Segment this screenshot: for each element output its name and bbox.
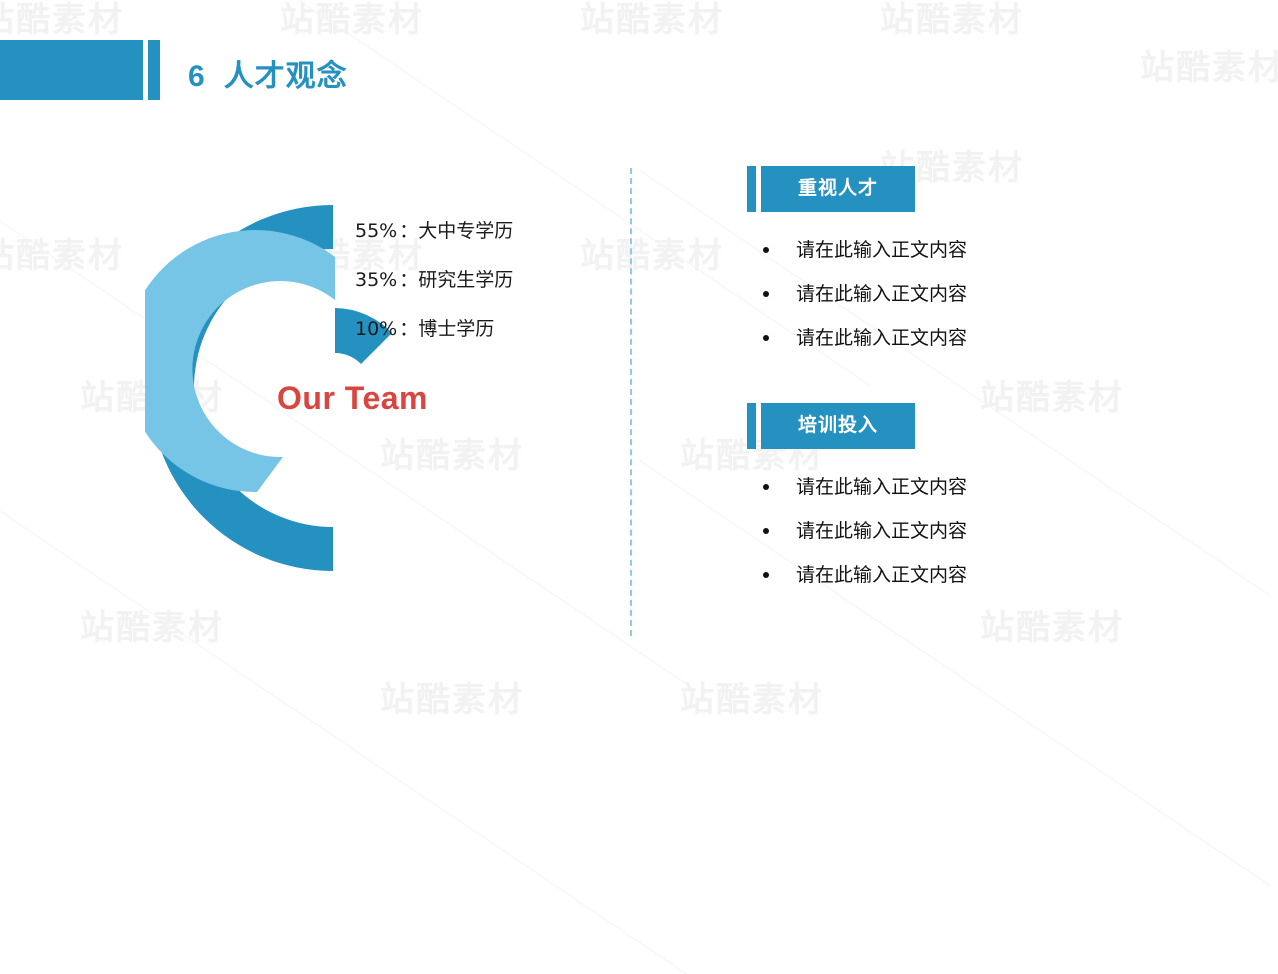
legend-percent: 10% [355,318,397,340]
watermark-text: 站酷素材 [580,0,724,41]
legend-item: 35%：研究生学历 [355,256,595,305]
legend-percent: 35% [355,269,397,291]
list-item-label: 请在此输入正文内容 [796,564,967,586]
legend-separator: ： [399,269,418,291]
page-title-number: 6 [188,60,206,93]
panel-header-accent-bar [747,166,756,212]
watermark-text: 站酷素材 [280,0,424,41]
watermark-text: 站酷素材 [580,228,724,277]
donut-segment-middle [145,230,335,492]
vertical-divider [630,168,632,636]
bullet-dot-icon [763,572,769,578]
list-item-label: 请在此输入正文内容 [796,520,967,542]
list-item-label: 请在此输入正文内容 [796,476,967,498]
legend-separator: ： [399,318,418,340]
panel-header-accent-bar [747,403,756,449]
list-item-label: 请在此输入正文内容 [796,283,967,305]
list-item: 请在此输入正文内容 [760,553,1060,597]
chart-legend: 55%：大中专学历 35%：研究生学历 10%：博士学历 [355,207,595,354]
legend-separator: ： [399,220,418,242]
panel-bullet-list: 请在此输入正文内容 请在此输入正文内容 请在此输入正文内容 [760,465,1060,597]
watermark-text: 站酷素材 [0,0,124,41]
legend-item: 10%：博士学历 [355,305,595,354]
panel-header-title: 重视人才 [761,166,915,212]
bullet-dot-icon [763,528,769,534]
watermark-text: 站酷素材 [980,600,1124,649]
panel-header-title: 培训投入 [761,403,915,449]
list-item: 请在此输入正文内容 [760,228,1060,272]
page-title-text: 人才观念 [224,60,348,93]
list-item-label: 请在此输入正文内容 [796,239,967,261]
list-item: 请在此输入正文内容 [760,272,1060,316]
chart-center-label: Our Team [277,380,428,417]
watermark-text: 站酷素材 [880,0,1024,41]
watermark-text: 站酷素材 [0,228,124,277]
watermark-text: 站酷素材 [80,600,224,649]
bullet-dot-icon [763,247,769,253]
list-item: 请在此输入正文内容 [760,316,1060,360]
header-accent-bar [148,40,160,100]
header-accent-block [0,40,143,100]
list-item: 请在此输入正文内容 [760,465,1060,509]
page-title: 6人才观念 [188,51,348,95]
list-item: 请在此输入正文内容 [760,509,1060,553]
list-item-label: 请在此输入正文内容 [796,327,967,349]
panel-bullet-list: 请在此输入正文内容 请在此输入正文内容 请在此输入正文内容 [760,228,1060,360]
legend-label: 博士学历 [418,318,494,340]
bullet-dot-icon [763,291,769,297]
legend-label: 大中专学历 [418,220,513,242]
watermark-text: 站酷素材 [680,672,824,721]
legend-percent: 55% [355,220,397,242]
watermark-text: 站酷素材 [1140,40,1278,89]
watermark-text: 站酷素材 [980,370,1124,419]
watermark-text: 站酷素材 [380,672,524,721]
bullet-dot-icon [763,335,769,341]
legend-item: 55%：大中专学历 [355,207,595,256]
legend-label: 研究生学历 [418,269,513,291]
bullet-dot-icon [763,484,769,490]
